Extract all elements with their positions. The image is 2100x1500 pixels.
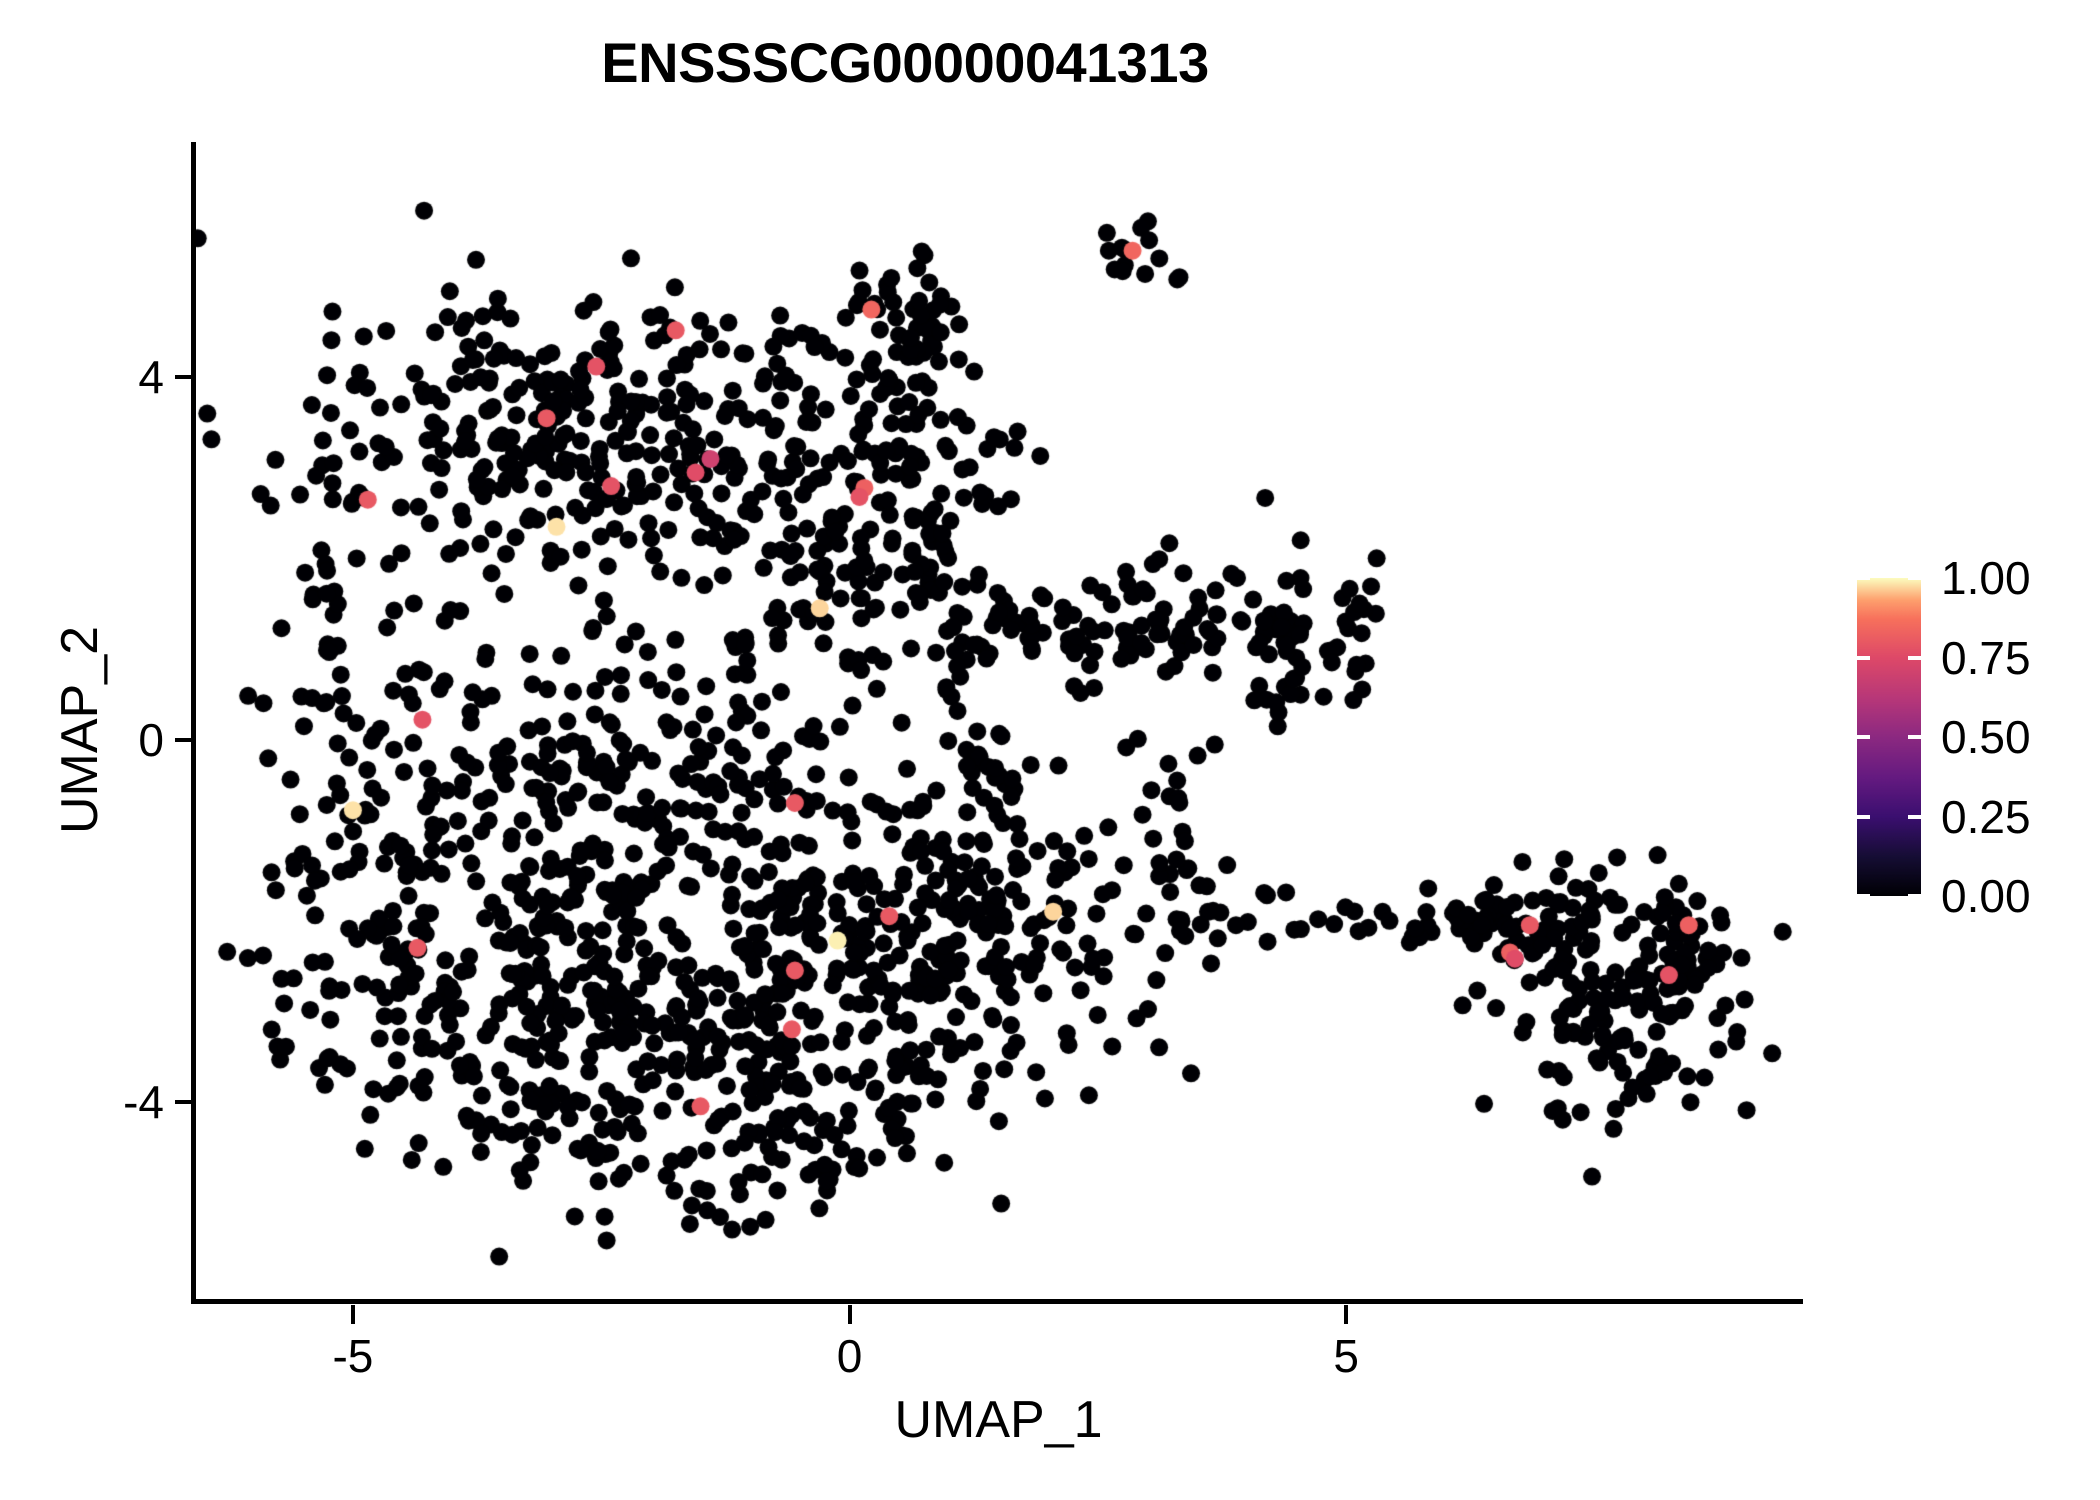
x-tick-label: 0 <box>750 1333 950 1379</box>
x-tick-mark <box>1344 1305 1348 1324</box>
y-tick-mark <box>175 1100 194 1104</box>
colorbar-tick-mark <box>1908 656 1921 660</box>
colorbar-tick-label: 0.00 <box>1941 873 2031 919</box>
colorbar-tick-label: 0.75 <box>1941 635 2031 681</box>
colorbar-tick-mark <box>1857 576 1870 580</box>
colorbar-tick-mark <box>1908 815 1921 819</box>
x-axis-title: UMAP_1 <box>194 1390 1803 1450</box>
x-axis-line <box>191 1299 1803 1304</box>
colorbar-tick-mark <box>1857 894 1870 898</box>
colorbar-tick-label: 0.50 <box>1941 714 2031 760</box>
y-tick-mark <box>175 738 194 742</box>
scatter-plot-canvas <box>194 142 1803 1301</box>
y-axis-line <box>191 142 196 1304</box>
colorbar-tick-label: 0.25 <box>1941 794 2031 840</box>
colorbar-tick-mark <box>1908 735 1921 739</box>
colorbar-tick-mark <box>1908 576 1921 580</box>
colorbar-tick-mark <box>1857 656 1870 660</box>
plot-panel <box>194 142 1803 1301</box>
umap-feature-plot: ENSSSCG00000041313 -404 -505 UMAP_1 UMAP… <box>0 0 2100 1500</box>
x-tick-mark <box>848 1305 852 1324</box>
colorbar-tick-mark <box>1857 735 1870 739</box>
colorbar-tick-mark <box>1857 815 1870 819</box>
legend-colorbar: 1.000.750.500.250.00 <box>1857 578 2087 908</box>
x-tick-label: -5 <box>253 1333 453 1379</box>
x-tick-mark <box>351 1305 355 1324</box>
y-axis-title: UMAP_2 <box>50 150 110 1310</box>
colorbar-tick-mark <box>1908 894 1921 898</box>
x-tick-label: 5 <box>1246 1333 1446 1379</box>
y-tick-mark <box>175 375 194 379</box>
page-title: ENSSSCG00000041313 <box>0 30 1810 95</box>
colorbar-tick-label: 1.00 <box>1941 555 2031 601</box>
